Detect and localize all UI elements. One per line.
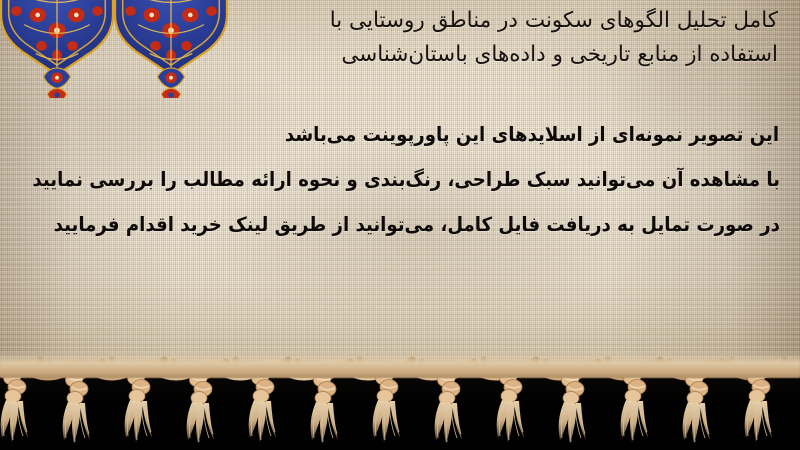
slide-title: کامل تحلیل الگوهای سکونت در مناطق روستای… [222, 4, 778, 72]
tazhib-pendant-icon [0, 0, 116, 98]
body-line-3: در صورت تمایل به دریافت فایل کامل، می‌تو… [69, 202, 780, 247]
canvas-selvedge-edge [0, 352, 800, 378]
rope-fringe [0, 352, 800, 450]
title-line-2: استفاده از منابع تاریخی و داده‌های باستا… [222, 38, 778, 72]
body-line-1: این تصویر نمونه‌ای از اسلایدهای این پاور… [69, 112, 780, 157]
title-line-1: کامل تحلیل الگوهای سکونت در مناطق روستای… [222, 4, 778, 38]
tazhib-pendant-icon [112, 0, 230, 98]
body-line-2: با مشاهده آن می‌توانید سبک طراحی، رنگ‌بن… [69, 157, 780, 202]
slide-body: این تصویر نمونه‌ای از اسلایدهای این پاور… [16, 112, 780, 247]
ornament-group [0, 0, 240, 101]
presentation-slide: کامل تحلیل الگوهای سکونت در مناطق روستای… [0, 0, 800, 450]
